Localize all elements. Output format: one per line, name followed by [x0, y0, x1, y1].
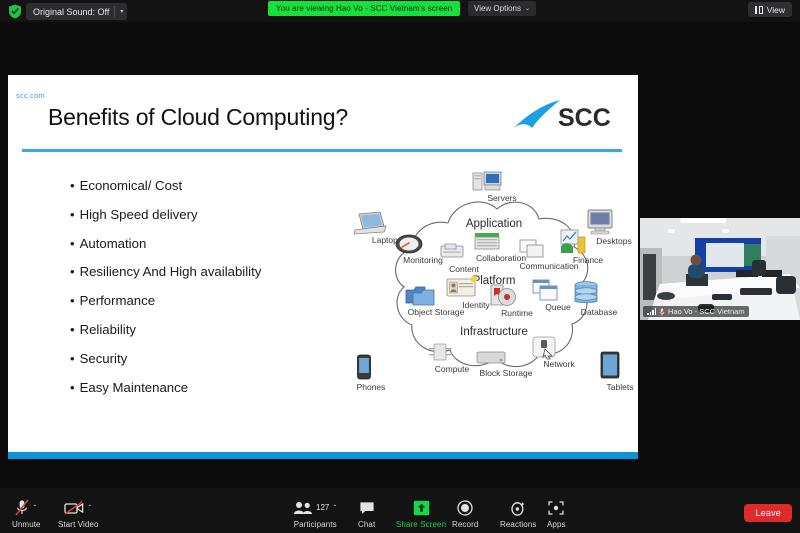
service-label-identity: Identity	[462, 301, 489, 310]
leave-button[interactable]: Leave	[744, 504, 792, 522]
chat-bubble-icon[interactable]	[359, 498, 375, 517]
cloud-computing-diagram: Application Platform Infrastructure Serv…	[342, 171, 632, 414]
phones-icon	[357, 354, 372, 380]
apps-label: Apps	[547, 521, 566, 529]
chevron-up-icon[interactable]: ⌃	[32, 505, 37, 511]
mic-muted-icon[interactable]: ⌃	[15, 498, 37, 517]
view-options-button[interactable]: View Options ⌄	[468, 1, 536, 16]
start-video-label: Start Video	[58, 521, 99, 529]
service-label-communication: Communication	[519, 262, 578, 271]
chevron-down-icon: ⌄	[525, 5, 530, 12]
device-label-tablets: Tablets	[607, 383, 634, 392]
list-item: •Security	[70, 352, 330, 365]
laptops-icon	[353, 211, 387, 235]
bullet-marker: •	[70, 237, 75, 250]
identity-icon	[446, 276, 478, 298]
shield-check-icon	[8, 4, 22, 19]
bullet-marker: •	[70, 352, 75, 365]
reactions-label: Reactions	[500, 521, 536, 529]
servers-icon	[472, 171, 502, 193]
apps-button[interactable]: Apps	[547, 498, 566, 529]
video-off-icon[interactable]: ⌃	[64, 498, 92, 517]
video-feed	[640, 218, 800, 320]
bullet-text: Security	[80, 352, 128, 365]
device-label-desktops: Desktops	[596, 237, 631, 246]
shared-screen-slide: scc.com Benefits of Cloud Computing? SCC…	[8, 75, 638, 459]
bullet-text: High Speed delivery	[80, 208, 198, 221]
bullet-marker: •	[70, 294, 75, 307]
meeting-toolbar: ⌃ Unmute ⌃ Start Video	[0, 488, 800, 533]
record-button[interactable]: Record	[452, 498, 478, 529]
queue-icon	[532, 279, 558, 301]
screen-share-banner-text: You are viewing Hao Vo - SCC Vietnam's s…	[276, 4, 452, 13]
service-label-block-storage: Block Storage	[480, 369, 533, 378]
share-screen-icon[interactable]	[413, 498, 430, 517]
service-label-network: Network	[543, 360, 574, 369]
divider	[114, 6, 115, 17]
chevron-up-icon[interactable]: ⌃	[332, 505, 337, 511]
scc-logo: SCC	[508, 95, 630, 137]
runtime-icon	[489, 283, 517, 307]
view-options-label: View Options	[474, 4, 521, 13]
bullet-text: Performance	[80, 294, 156, 307]
participant-name-badge: Hao Vo - SCC Vietnam	[643, 306, 749, 317]
bullet-text: Economical/ Cost	[80, 179, 183, 192]
unmute-label: Unmute	[12, 521, 41, 529]
list-item: •Resiliency And High availability	[70, 265, 330, 278]
database-icon	[573, 281, 599, 305]
reactions-icon[interactable]	[510, 498, 526, 517]
screen-share-banner: You are viewing Hao Vo - SCC Vietnam's s…	[268, 1, 460, 16]
record-label: Record	[452, 521, 478, 529]
slide-title: Benefits of Cloud Computing?	[48, 104, 348, 131]
view-button-label: View	[767, 5, 785, 15]
apps-icon[interactable]	[548, 498, 564, 517]
chevron-up-icon[interactable]: ⌃	[87, 505, 92, 511]
svg-text:SCC: SCC	[558, 104, 611, 132]
block-storage-icon	[476, 350, 506, 366]
service-label-runtime: Runtime	[501, 309, 533, 318]
compute-icon	[428, 341, 452, 363]
list-item: •Automation	[70, 237, 330, 250]
bullet-list: •Economical/ Cost •High Speed delivery •…	[70, 179, 330, 409]
bullet-marker: •	[70, 208, 75, 221]
list-item: •Performance	[70, 294, 330, 307]
title-underline	[22, 149, 622, 152]
signal-bars-icon	[647, 308, 656, 315]
original-sound-label: Original Sound: Off	[33, 7, 109, 17]
start-video-button[interactable]: ⌃ Start Video	[58, 498, 99, 529]
device-label-phones: Phones	[357, 383, 386, 392]
layout-grid-icon	[755, 6, 763, 14]
monitoring-icon	[395, 234, 423, 254]
desktops-icon	[586, 209, 614, 235]
service-label-compute: Compute	[435, 365, 470, 374]
reactions-button[interactable]: Reactions	[500, 498, 536, 529]
participants-count: 127	[316, 504, 329, 512]
diagram-layer-application: Application	[466, 218, 522, 230]
bullet-marker: •	[70, 323, 75, 336]
bullet-text: Easy Maintenance	[80, 381, 189, 394]
mic-muted-icon	[659, 308, 665, 316]
participant-video-tile[interactable]: Hao Vo - SCC Vietnam	[640, 218, 800, 320]
list-item: •Easy Maintenance	[70, 381, 330, 394]
service-label-object-storage: Object Storage	[408, 308, 465, 317]
list-item: •Reliability	[70, 323, 330, 336]
participant-name-text: Hao Vo - SCC Vietnam	[668, 307, 745, 316]
diagram-layer-infrastructure: Infrastructure	[460, 326, 528, 338]
tablets-icon	[600, 351, 620, 379]
list-item: •High Speed delivery	[70, 208, 330, 221]
participants-icon[interactable]: 127 ⌃	[293, 498, 337, 517]
zoom-meeting-window: Original Sound: Off ▾ You are viewing Ha…	[0, 0, 800, 533]
participants-label: Participants	[294, 521, 337, 529]
service-label-finance: Finance	[573, 256, 603, 265]
list-item: •Economical/ Cost	[70, 179, 330, 192]
share-screen-label: Share Screen	[396, 521, 446, 529]
participants-button[interactable]: 127 ⌃ Participants	[293, 498, 337, 529]
bullet-text: Reliability	[80, 323, 136, 336]
chat-button[interactable]: Chat	[358, 498, 375, 529]
share-screen-button[interactable]: Share Screen	[396, 498, 446, 529]
network-icon	[532, 336, 558, 360]
bullet-text: Automation	[80, 237, 147, 250]
service-label-queue: Queue	[545, 303, 571, 312]
chat-label: Chat	[358, 521, 375, 529]
content-icon	[440, 243, 464, 259]
chevron-down-icon[interactable]: ▾	[120, 9, 123, 15]
bullet-marker: •	[70, 381, 75, 394]
slide-bottom-bar	[8, 452, 638, 459]
bullet-text: Resiliency And High availability	[80, 265, 262, 278]
service-label-monitoring: Monitoring	[403, 256, 443, 265]
record-icon[interactable]	[457, 498, 473, 517]
original-sound-button[interactable]: Original Sound: Off ▾	[26, 3, 127, 20]
service-label-database: Database	[581, 308, 617, 317]
leave-label: Leave	[755, 508, 781, 518]
view-layout-button[interactable]: View	[748, 2, 792, 17]
service-label-content: Content	[449, 265, 479, 274]
top-bar: Original Sound: Off ▾ You are viewing Ha…	[0, 0, 800, 22]
object-storage-icon	[405, 284, 435, 306]
bullet-marker: •	[70, 179, 75, 192]
slide-url: scc.com	[16, 91, 45, 100]
collaboration-icon	[473, 231, 501, 253]
device-label-servers: Servers	[487, 194, 516, 203]
bullet-marker: •	[70, 265, 75, 278]
communication-icon	[519, 239, 549, 259]
finance-icon	[559, 229, 589, 255]
unmute-button[interactable]: ⌃ Unmute	[12, 498, 41, 529]
